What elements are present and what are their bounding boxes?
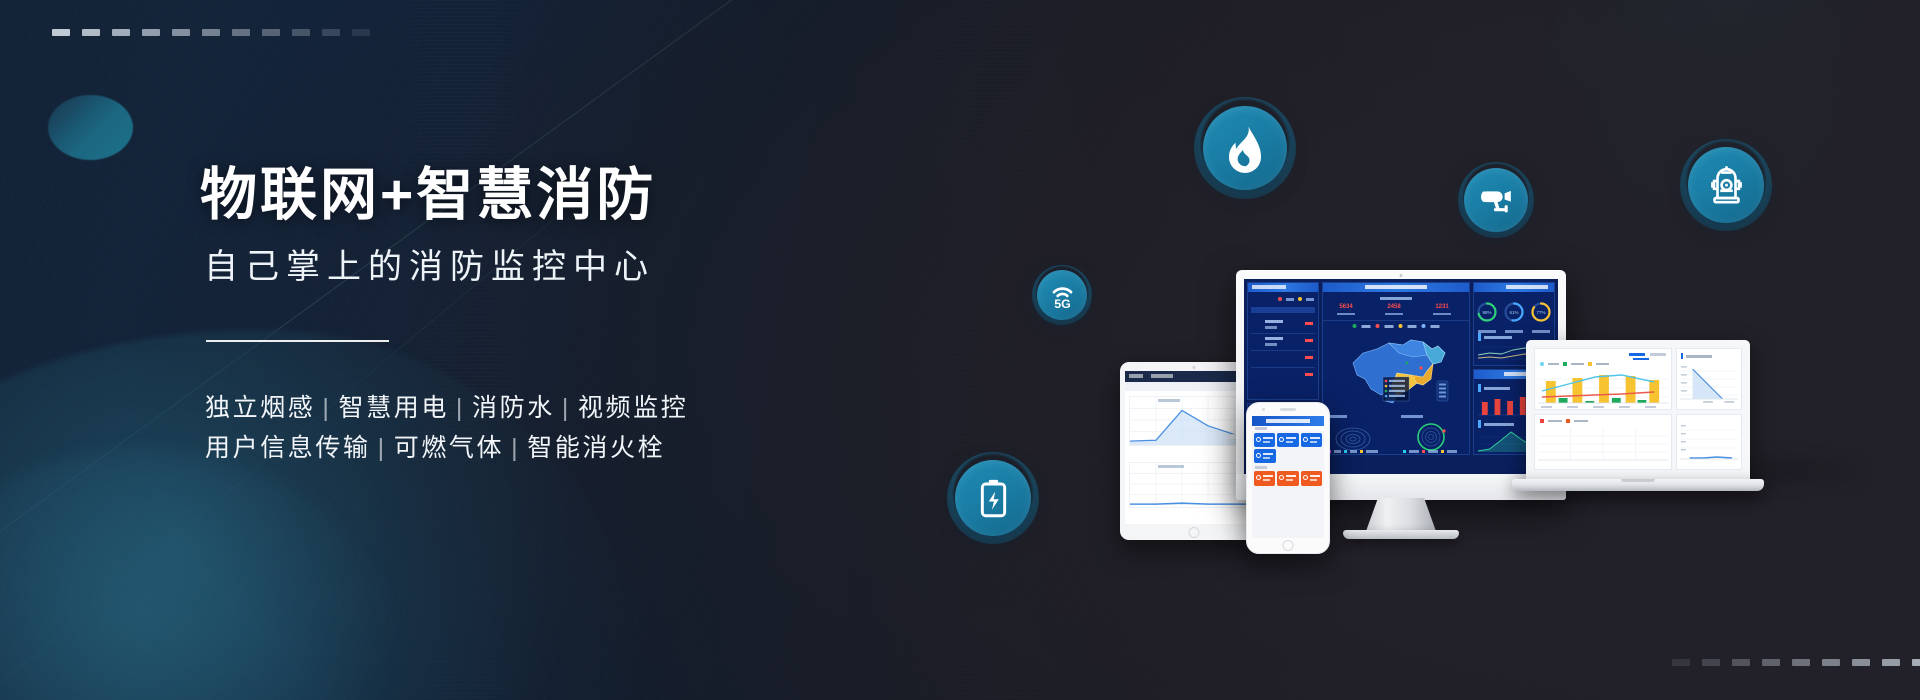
feature-item[interactable]: 可燃气体 bbox=[394, 434, 504, 462]
feature-item[interactable]: 智能消火栓 bbox=[527, 434, 665, 462]
phone-home-button[interactable] bbox=[1283, 540, 1294, 551]
tablet-camera-icon bbox=[1193, 366, 1196, 369]
feature-item[interactable]: 智慧用电 bbox=[339, 394, 449, 422]
decor-dash bbox=[322, 29, 340, 36]
phone-speaker-icon bbox=[1280, 408, 1296, 411]
device-mockup-group: 5634 2458 1231 bbox=[1120, 280, 1900, 610]
flame-icon bbox=[1219, 122, 1271, 174]
phone-tile-alert[interactable] bbox=[1254, 471, 1275, 486]
decor-dash bbox=[1912, 659, 1920, 666]
feature-item[interactable]: 独立烟感 bbox=[205, 394, 315, 422]
decor-dashes-top-left bbox=[52, 29, 370, 36]
feature-separator: | bbox=[449, 394, 472, 422]
phone-tile-alert[interactable] bbox=[1301, 471, 1322, 486]
monitor-kpi-value: 5634 bbox=[1337, 304, 1355, 311]
decor-dash bbox=[352, 29, 370, 36]
feature-separator: | bbox=[555, 394, 578, 422]
laptop-bar-chart bbox=[1538, 370, 1668, 408]
page-title: 物联网+智慧消防 bbox=[200, 165, 920, 227]
battery-badge[interactable] bbox=[947, 452, 1039, 544]
phone-app-header bbox=[1252, 416, 1324, 426]
cctv-camera-icon bbox=[1477, 181, 1516, 220]
monitor-gauge-row: 98% 61% 77% bbox=[1474, 301, 1554, 333]
decor-dash bbox=[1792, 659, 1810, 666]
monitor-panel-map[interactable]: 5634 2458 1231 bbox=[1322, 282, 1470, 455]
monitor-stand-neck bbox=[1365, 498, 1437, 534]
decor-dash bbox=[262, 29, 280, 36]
decor-dash bbox=[1822, 659, 1840, 666]
page-subtitle: 自己掌上的消防监控中心 bbox=[204, 247, 920, 288]
decor-dash bbox=[1882, 659, 1900, 666]
laptop-panel-area[interactable] bbox=[1676, 348, 1742, 410]
monitor-panel-alarm-table[interactable] bbox=[1247, 282, 1319, 400]
monitor-kpi-value: 1231 bbox=[1433, 304, 1451, 311]
decor-dash bbox=[1762, 659, 1780, 666]
decor-dash bbox=[202, 29, 220, 36]
phone-tile[interactable] bbox=[1254, 449, 1276, 463]
feature-line: 用户信息传输|可燃气体|智能消火栓 bbox=[205, 429, 920, 469]
phone-screen[interactable] bbox=[1252, 416, 1324, 538]
laptop-device bbox=[1512, 340, 1764, 500]
svg-text:61%: 61% bbox=[1509, 310, 1518, 315]
decor-dash bbox=[112, 29, 130, 36]
divider bbox=[206, 340, 389, 342]
battery-bolt-icon bbox=[970, 475, 1017, 522]
decor-dash bbox=[1672, 659, 1690, 666]
decor-dash bbox=[172, 29, 190, 36]
decor-dash bbox=[292, 29, 310, 36]
smartphone-device bbox=[1246, 402, 1330, 554]
phone-camera-icon bbox=[1262, 408, 1265, 411]
svg-text:98%: 98% bbox=[1483, 310, 1492, 315]
monitor-radar-right bbox=[1401, 421, 1467, 453]
decor-dash bbox=[1732, 659, 1750, 666]
hydrant-badge[interactable] bbox=[1680, 139, 1772, 231]
tablet-home-button[interactable] bbox=[1189, 527, 1200, 538]
camera-badge[interactable] bbox=[1458, 162, 1534, 238]
laptop-screen[interactable] bbox=[1531, 345, 1745, 474]
phone-tile[interactable] bbox=[1301, 433, 1322, 447]
fire-hydrant-icon bbox=[1703, 162, 1750, 209]
decor-dash bbox=[232, 29, 250, 36]
monitor-stand-base bbox=[1343, 530, 1459, 539]
decor-dash bbox=[1852, 659, 1870, 666]
decor-dash bbox=[1702, 659, 1720, 666]
decor-dash bbox=[52, 29, 70, 36]
feature-separator: | bbox=[504, 434, 527, 462]
feature-item[interactable]: 消防水 bbox=[472, 394, 555, 422]
phone-tile[interactable] bbox=[1254, 433, 1275, 447]
hero-copy: 物联网+智慧消防 自己掌上的消防监控中心 独立烟感|智慧用电|消防水|视频监控用… bbox=[200, 165, 920, 468]
phone-tile[interactable] bbox=[1277, 433, 1298, 447]
decor-dashes-bottom-right bbox=[1672, 659, 1920, 666]
laptop-panel-bar2[interactable] bbox=[1534, 414, 1672, 470]
svg-text:5G: 5G bbox=[1054, 296, 1071, 310]
feature-separator: | bbox=[315, 394, 338, 422]
feature-item[interactable]: 视频监控 bbox=[578, 394, 688, 422]
monitor-radar-left bbox=[1327, 421, 1395, 453]
decor-dash bbox=[82, 29, 100, 36]
china-map[interactable] bbox=[1337, 333, 1457, 411]
laptop-trackpad-notch bbox=[1621, 479, 1655, 482]
feature-list: 独立烟感|智慧用电|消防水|视频监控用户信息传输|可燃气体|智能消火栓 bbox=[205, 389, 920, 468]
laptop-panel-line2[interactable] bbox=[1676, 414, 1742, 470]
monitor-camera-icon bbox=[1400, 274, 1403, 277]
feature-item[interactable]: 用户信息传输 bbox=[205, 434, 371, 462]
laptop-panel-bar[interactable] bbox=[1534, 348, 1672, 410]
decor-dash bbox=[142, 29, 160, 36]
phone-tile-alert[interactable] bbox=[1277, 471, 1298, 486]
feature-separator: | bbox=[371, 434, 394, 462]
fiveg-badge[interactable]: 5G bbox=[1032, 265, 1092, 325]
fire-badge[interactable] bbox=[1194, 97, 1296, 199]
svg-text:77%: 77% bbox=[1536, 310, 1545, 315]
5g-signal-icon: 5G bbox=[1047, 280, 1078, 311]
monitor-kpi-value: 2458 bbox=[1385, 304, 1403, 311]
monitor-map-legend bbox=[1353, 324, 1440, 328]
feature-line: 独立烟感|智慧用电|消防水|视频监控 bbox=[205, 389, 920, 429]
hero-banner: 物联网+智慧消防 自己掌上的消防监控中心 独立烟感|智慧用电|消防水|视频监控用… bbox=[0, 0, 1920, 700]
